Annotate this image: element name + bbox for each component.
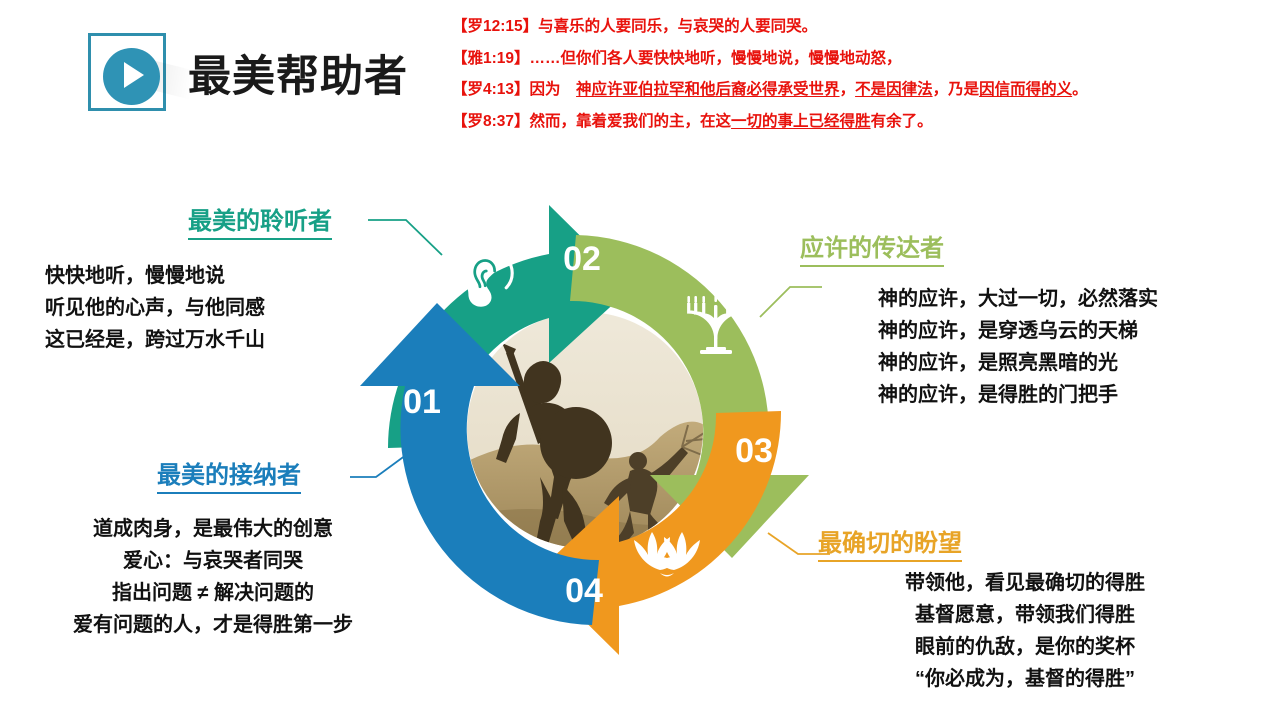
segment-number-04: 04	[565, 572, 603, 610]
segment-number-03: 03	[735, 432, 773, 470]
verse-line: 【罗4:13】因为 神应许亚伯拉罕和他后裔必得承受世界，不是因律法，乃是因信而得…	[452, 74, 1272, 106]
verse-line: 【罗8:37】然而，靠着爱我们的主，在这一切的事上已经得胜有余了。	[452, 106, 1272, 138]
verse-text: 然而，靠着爱我们的主，在这一切的事上已经得胜有余了。	[530, 113, 933, 130]
heading-acceptor: 最美的接纳者	[157, 455, 301, 492]
text-line: 这已经是，跨过万水千山	[45, 324, 265, 356]
text-line: 基督愿意，带领我们得胜	[860, 599, 1190, 631]
text-line: “你必成为，基督的得胜”	[860, 663, 1190, 695]
page-title: 最美帮助者	[188, 42, 408, 104]
text-block-promise: 神的应许，大过一切，必然落实 神的应许，是穿透乌云的天梯 神的应许，是照亮黑暗的…	[878, 283, 1158, 411]
text-block-hope: 带领他，看见最确切的得胜 基督愿意，带领我们得胜 眼前的仇敌，是你的奖杯 “你必…	[860, 567, 1190, 695]
verse-ref: 【罗8:37】	[452, 113, 530, 130]
connector-04	[768, 533, 830, 554]
verse-line: 【罗12:15】与喜乐的人要同乐，与哀哭的人要同哭。	[452, 11, 1272, 43]
verse-ref: 【雅1:19】	[452, 50, 530, 67]
verse-ref: 【罗12:15】	[452, 18, 538, 35]
verse-text: 因为 神应许亚伯拉罕和他后裔必得承受世界，不是因律法，乃是因信而得的义。	[530, 81, 1088, 98]
segment-number-02: 02	[563, 240, 601, 278]
connector-02	[368, 220, 442, 255]
verse-text: ……但你们各人要快快地听，慢慢地说，慢慢地动怒，	[530, 50, 902, 67]
text-line: 神的应许，是穿透乌云的天梯	[878, 315, 1158, 347]
connector-03	[760, 287, 822, 317]
text-block-listener: 快快地听，慢慢地说 听见他的心声，与他同感 这已经是，跨过万水千山	[45, 260, 265, 356]
text-line: 快快地听，慢慢地说	[45, 260, 265, 292]
cycle-diagram: 02 03 04 01	[330, 165, 840, 695]
slide-canvas: 最美帮助者 【罗12:15】与喜乐的人要同乐，与哀哭的人要同哭。 【雅1:19】…	[0, 0, 1280, 720]
text-line: 听见他的心声，与他同感	[45, 292, 265, 324]
play-triangle-icon	[124, 62, 144, 88]
segment-number-01: 01	[403, 383, 441, 421]
text-line: 眼前的仇敌，是你的奖杯	[860, 631, 1190, 663]
text-line: 神的应许，是照亮黑暗的光	[878, 347, 1158, 379]
text-line: 神的应许，大过一切，必然落实	[878, 283, 1158, 315]
verse-ref: 【罗4:13】	[452, 81, 530, 98]
heading-listener: 最美的聆听者	[188, 201, 332, 238]
verse-line: 【雅1:19】……但你们各人要快快地听，慢慢地说，慢慢地动怒，	[452, 43, 1272, 75]
connector-01	[350, 455, 406, 477]
verse-list: 【罗12:15】与喜乐的人要同乐，与哀哭的人要同哭。 【雅1:19】……但你们各…	[452, 11, 1272, 137]
verse-text: 与喜乐的人要同乐，与哀哭的人要同哭。	[538, 18, 817, 35]
text-line: 神的应许，是得胜的门把手	[878, 379, 1158, 411]
text-line: 带领他，看见最确切的得胜	[860, 567, 1190, 599]
